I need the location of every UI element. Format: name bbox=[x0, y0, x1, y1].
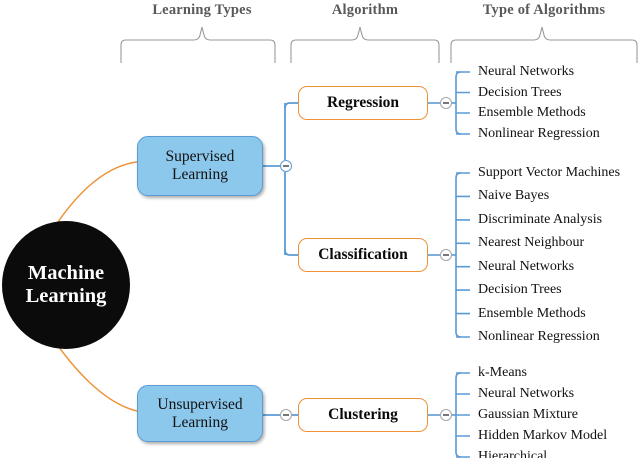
leaf-item[interactable]: Nonlinear Regression bbox=[478, 127, 600, 141]
column-braces bbox=[121, 27, 637, 63]
bracket-classification-spine bbox=[456, 173, 461, 337]
brace-learning-types bbox=[121, 27, 275, 63]
leaf-item[interactable]: k-Means bbox=[478, 366, 527, 380]
root-node-machine-learning[interactable]: Machine Learning bbox=[2, 221, 130, 349]
column-header-algorithm: Algorithm bbox=[291, 2, 439, 19]
leaf-item[interactable]: Decision Trees bbox=[478, 86, 562, 100]
bracket-regression-spine bbox=[456, 72, 461, 134]
leaf-item[interactable]: Neural Networks bbox=[478, 387, 574, 401]
collapse-handle-regression[interactable] bbox=[440, 97, 452, 109]
leaf-item[interactable]: Support Vector Machines bbox=[478, 166, 620, 180]
collapse-handle-clustering[interactable] bbox=[440, 409, 452, 421]
leaf-item[interactable]: Gaussian Mixture bbox=[478, 408, 578, 422]
leaf-item[interactable]: Ensemble Methods bbox=[478, 106, 586, 120]
branch-node-unsupervised-learning[interactable]: Unsupervised Learning bbox=[137, 385, 263, 442]
branch-label-line1: Supervised bbox=[166, 148, 235, 166]
algorithm-node-regression[interactable]: Regression bbox=[298, 86, 428, 120]
leaf-item[interactable]: Nonlinear Regression bbox=[478, 330, 600, 344]
collapse-handle-supervised[interactable] bbox=[280, 160, 292, 172]
supervised-algorithm-wires bbox=[263, 103, 298, 255]
algorithm-node-classification[interactable]: Classification bbox=[298, 238, 428, 272]
column-header-learning-types: Learning Types bbox=[127, 2, 277, 19]
branch-node-supervised-learning[interactable]: Supervised Learning bbox=[137, 136, 263, 196]
brace-type-of-algorithms bbox=[451, 27, 637, 63]
bracket-classification-ticks bbox=[456, 173, 470, 337]
root-label-line2: Learning bbox=[26, 285, 107, 308]
leaf-item[interactable]: Decision Trees bbox=[478, 283, 562, 297]
leaf-item[interactable]: Hierarchical bbox=[478, 450, 547, 458]
leaf-item[interactable]: Neural Networks bbox=[478, 65, 574, 79]
branch-label-line2: Learning bbox=[172, 166, 228, 184]
leaf-item[interactable]: Naive Bayes bbox=[478, 189, 549, 203]
collapse-handle-unsupervised[interactable] bbox=[280, 409, 292, 421]
machine-learning-mindmap: Learning Types Algorithm Type of Algorit… bbox=[0, 0, 640, 458]
root-label-line1: Machine bbox=[28, 262, 104, 285]
column-header-type-of-algorithms: Type of Algorithms bbox=[451, 2, 637, 19]
wire-spine-to-regression bbox=[285, 103, 298, 108]
algorithm-node-clustering[interactable]: Clustering bbox=[298, 398, 428, 432]
branch-label-line1: Unsupervised bbox=[157, 396, 242, 414]
brace-algorithm bbox=[291, 27, 439, 63]
wire-spine-to-classification bbox=[285, 250, 298, 255]
leaf-item[interactable]: Ensemble Methods bbox=[478, 307, 586, 321]
leaf-item[interactable]: Neural Networks bbox=[478, 260, 574, 274]
leaf-item[interactable]: Nearest Neighbour bbox=[478, 236, 584, 250]
bracket-regression-ticks bbox=[456, 72, 470, 134]
bracket-clustering-ticks bbox=[456, 373, 470, 457]
collapse-handle-classification[interactable] bbox=[440, 249, 452, 261]
leaf-item[interactable]: Discriminate Analysis bbox=[478, 213, 602, 227]
branch-label-line2: Learning bbox=[172, 414, 228, 432]
leaf-item[interactable]: Hidden Markov Model bbox=[478, 429, 607, 443]
